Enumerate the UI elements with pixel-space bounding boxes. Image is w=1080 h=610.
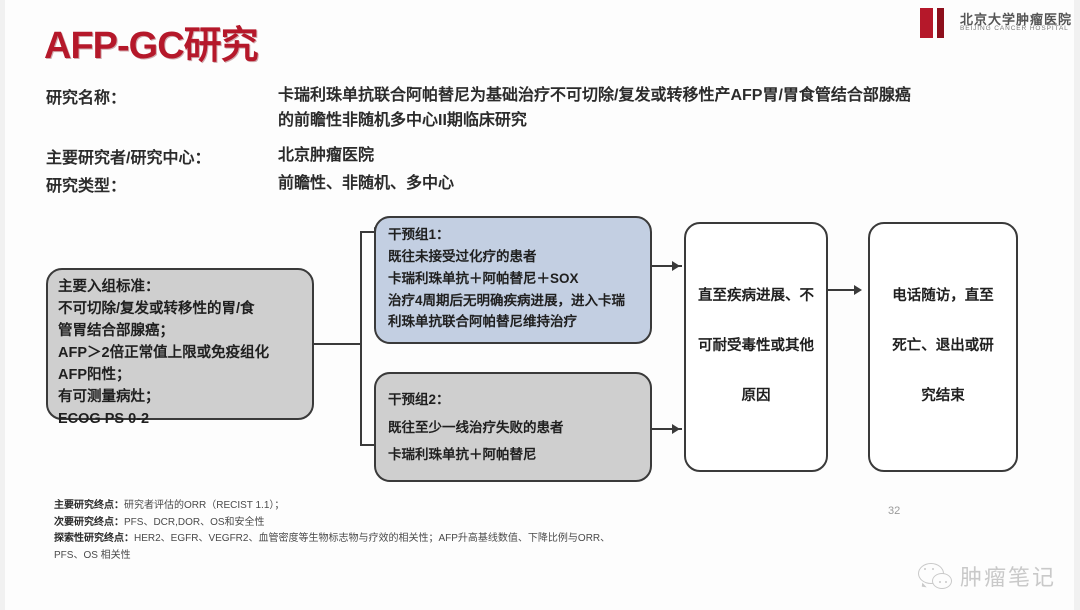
group1-line: 既往未接受过化疗的患者: [388, 246, 638, 268]
endpoint-exploratory-row-2: PFS、OS 相关性: [54, 548, 844, 565]
connector-branch-vertical: [360, 232, 362, 445]
endpoint-primary-label: 主要研究终点：: [54, 500, 124, 511]
hospital-logo: 北京大学肿瘤医院 BEIJING CANCER HOSPITAL: [920, 6, 1072, 40]
connector-criteria-stem: [314, 343, 362, 345]
meta-value-study-name: 卡瑞利珠单抗联合阿帕替尼为基础治疗不可切除/复发或转移性产AFP胃/胃食管结合部…: [278, 84, 911, 134]
page-number: 32: [888, 505, 900, 517]
meta-row-study-type: 研究类型： 前瞻性、非随机、多中心: [46, 172, 1046, 197]
left-edge-strip: [0, 0, 5, 610]
intervention-group-1-box: 干预组1： 既往未接受过化疗的患者 卡瑞利珠单抗＋阿帕替尼＋SOX 治疗4周期后…: [374, 216, 652, 344]
right-edge-strip: [1074, 0, 1080, 610]
group1-line: 利珠单抗联合阿帕替尼维持治疗: [388, 311, 638, 333]
wechat-icon: [918, 563, 952, 589]
meta-value-investigator: 北京肿瘤医院: [278, 144, 374, 169]
inclusion-criteria-box: 主要入组标准： 不可切除/复发或转移性的胃/食 管胃结合部腺癌； AFP＞2倍正…: [46, 268, 314, 420]
phone-line: 死亡、退出或研: [880, 336, 1006, 358]
endpoint-secondary-row: 次要研究终点：PFS、DCR,DOR、OS和安全性: [54, 515, 844, 532]
wechat-watermark: 肿瘤笔记: [918, 560, 1056, 592]
slide-canvas: AFP-GC研究 北京大学肿瘤医院 BEIJING CANCER HOSPITA…: [0, 0, 1080, 610]
study-name-line-2: 的前瞻性非随机多中心II期临床研究: [278, 109, 911, 134]
phone-line: 电话随访，直至: [880, 286, 1006, 308]
phone-followup-box: 电话随访，直至 死亡、退出或研 究结束: [868, 222, 1018, 472]
endpoint-exploratory-value: HER2、EGFR、VEGFR2、血管密度等生物标志物与疗效的相关性；AFP升高…: [134, 533, 610, 544]
endpoint-exploratory-row: 探索性研究终点：HER2、EGFR、VEGFR2、血管密度等生物标志物与疗效的相…: [54, 531, 844, 548]
followup-line: 可耐受毒性或其他: [696, 336, 816, 358]
criteria-line: AFP阳性；: [58, 364, 302, 386]
intervention-group-2-box: 干预组2： 既往至少一线治疗失败的患者 卡瑞利珠单抗＋阿帕替尼: [374, 372, 652, 482]
criteria-line: 主要入组标准：: [58, 276, 302, 298]
group1-line: 治疗4周期后无明确疾病进展，进入卡瑞: [388, 290, 638, 312]
criteria-line: 不可切除/复发或转移性的胃/食: [58, 298, 302, 320]
endpoint-exploratory-label: 探索性研究终点：: [54, 533, 134, 544]
followup-line: 原因: [696, 386, 816, 408]
meta-value-study-type: 前瞻性、非随机、多中心: [278, 172, 454, 197]
endpoint-secondary-label: 次要研究终点：: [54, 517, 124, 528]
group2-line: 干预组2：: [388, 386, 638, 414]
arrow-into-followup-bottom-icon: [672, 424, 680, 434]
meta-label-investigator: 主要研究者/研究中心：: [46, 144, 278, 168]
page-title: AFP-GC研究: [44, 14, 258, 69]
group1-line: 干预组1：: [388, 224, 638, 246]
followup-line: 直至疾病进展、不: [696, 286, 816, 308]
phone-line: 究结束: [880, 386, 1006, 408]
arrow-into-phone-icon: [854, 285, 862, 295]
endpoint-secondary-value: PFS、DCR,DOR、OS和安全性: [124, 517, 265, 528]
study-name-line-1: 卡瑞利珠单抗联合阿帕替尼为基础治疗不可切除/复发或转移性产AFP胃/胃食管结合部…: [278, 87, 911, 104]
endpoint-primary-value: 研究者评估的ORR（RECIST 1.1）；: [124, 500, 284, 511]
meta-label-study-type: 研究类型：: [46, 172, 278, 196]
group1-line: 卡瑞利珠单抗＋阿帕替尼＋SOX: [388, 268, 638, 290]
criteria-line: 管胃结合部腺癌；: [58, 320, 302, 342]
endpoint-primary-row: 主要研究终点：研究者评估的ORR（RECIST 1.1）；: [54, 498, 844, 515]
criteria-line: AFP＞2倍正常值上限或免疫组化: [58, 342, 302, 364]
meta-row-study-name: 研究名称： 卡瑞利珠单抗联合阿帕替尼为基础治疗不可切除/复发或转移性产AFP胃/…: [46, 84, 1046, 134]
hospital-logo-name-en: BEIJING CANCER HOSPITAL: [960, 26, 1072, 33]
watermark-label: 肿瘤笔记: [960, 560, 1056, 592]
criteria-line: ECOG PS 0-2: [58, 408, 302, 430]
criteria-line: 有可测量病灶；: [58, 386, 302, 408]
group2-line: 卡瑞利珠单抗＋阿帕替尼: [388, 441, 638, 469]
meta-row-investigator: 主要研究者/研究中心： 北京肿瘤医院: [46, 144, 1046, 169]
arrow-into-followup-top-icon: [672, 261, 680, 271]
group2-line: 既往至少一线治疗失败的患者: [388, 414, 638, 442]
study-endpoints-footnote: 主要研究终点：研究者评估的ORR（RECIST 1.1）； 次要研究终点：PFS…: [54, 498, 844, 564]
study-meta-block: 研究名称： 卡瑞利珠单抗联合阿帕替尼为基础治疗不可切除/复发或转移性产AFP胃/…: [46, 84, 1046, 201]
treatment-until-progression-box: 直至疾病进展、不 可耐受毒性或其他 原因: [684, 222, 828, 472]
hospital-logo-mark-icon: [920, 6, 954, 40]
meta-label-study-name: 研究名称：: [46, 84, 278, 108]
hospital-logo-name-cn: 北京大学肿瘤医院: [960, 13, 1072, 27]
